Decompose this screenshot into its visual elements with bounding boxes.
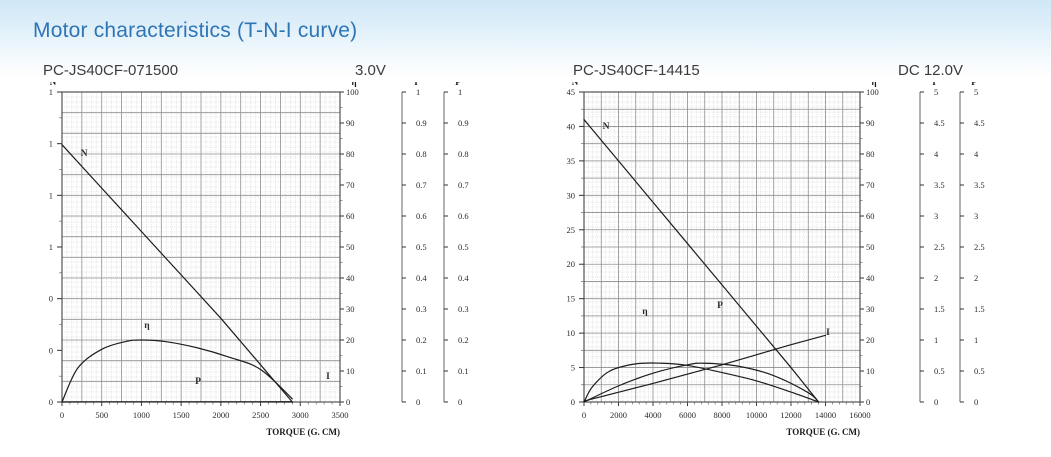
svg-text:0.5: 0.5 (458, 242, 469, 252)
chart-panel-left: PC-JS40CF-071500 3.0V 050010001500200025… (10, 54, 525, 456)
chart-svg-left: 0500100015002000250030003500TORQUE (G. C… (10, 82, 525, 457)
svg-text:50: 50 (346, 242, 355, 252)
svg-text:20: 20 (567, 259, 576, 269)
y-axis-eta: 0102030405060708090100 (860, 82, 879, 407)
svg-text:25: 25 (567, 225, 576, 235)
svg-text:3.5: 3.5 (974, 180, 985, 190)
svg-text:2500: 2500 (252, 410, 269, 420)
svg-text:0.8: 0.8 (458, 149, 469, 159)
chart-panel-right: PC-JS40CF-14415 DC 12.0V 020004000600080… (540, 54, 1045, 456)
svg-text:3500: 3500 (332, 410, 349, 420)
grid (584, 92, 860, 402)
svg-text:3: 3 (934, 211, 938, 221)
svg-text:10: 10 (866, 366, 875, 376)
svg-text:1: 1 (458, 87, 462, 97)
svg-text:0.4: 0.4 (416, 273, 427, 283)
svg-text:2.5: 2.5 (934, 242, 945, 252)
x-axis-label: TORQUE (G. CM) (786, 427, 860, 437)
svg-text:0: 0 (416, 397, 420, 407)
curve-eta (584, 363, 819, 402)
svg-text:0: 0 (934, 397, 938, 407)
svg-text:30: 30 (346, 304, 355, 314)
svg-text:1.5: 1.5 (974, 304, 985, 314)
svg-text:6000: 6000 (679, 410, 696, 420)
svg-text:0.9: 0.9 (458, 118, 469, 128)
svg-text:45: 45 (567, 87, 576, 97)
svg-text:0.7: 0.7 (458, 180, 469, 190)
svg-text:0: 0 (49, 397, 53, 407)
svg-text:0: 0 (571, 397, 575, 407)
svg-text:1: 1 (974, 335, 978, 345)
svg-text:0: 0 (49, 294, 53, 304)
svg-text:35: 35 (567, 156, 576, 166)
svg-text:2: 2 (934, 273, 938, 283)
y-axis-eta-title: η (351, 82, 356, 87)
svg-text:90: 90 (866, 118, 875, 128)
y-axis-i-title: I (932, 82, 936, 87)
svg-text:0.2: 0.2 (458, 335, 469, 345)
svg-text:15: 15 (567, 294, 576, 304)
svg-text:20: 20 (346, 335, 355, 345)
svg-text:10000: 10000 (746, 410, 767, 420)
y-axis-eta: 0102030405060708090100 (340, 82, 359, 407)
svg-text:2000: 2000 (610, 410, 627, 420)
y-axis-p: 00.511.522.533.544.55 (960, 87, 985, 407)
x-axis-label: TORQUE (G. CM) (266, 427, 340, 437)
x-axis: 0500100015002000250030003500 (60, 402, 349, 420)
svg-text:8000: 8000 (714, 410, 731, 420)
svg-text:40: 40 (346, 273, 355, 283)
svg-text:4.5: 4.5 (974, 118, 985, 128)
svg-text:1: 1 (49, 139, 53, 149)
svg-text:1.5: 1.5 (934, 304, 945, 314)
svg-text:1: 1 (49, 242, 53, 252)
y-axis-i: 00.10.20.30.40.50.60.70.80.91 (402, 87, 427, 407)
svg-text:0: 0 (582, 410, 586, 420)
svg-text:70: 70 (346, 180, 355, 190)
svg-text:0.4: 0.4 (458, 273, 469, 283)
svg-text:100: 100 (866, 87, 879, 97)
svg-text:50: 50 (866, 242, 875, 252)
curve-eta (62, 340, 292, 402)
svg-text:70: 70 (866, 180, 875, 190)
svg-text:80: 80 (346, 149, 355, 159)
svg-text:4000: 4000 (645, 410, 662, 420)
svg-text:1: 1 (416, 87, 420, 97)
svg-text:20: 20 (866, 335, 875, 345)
svg-text:0: 0 (49, 345, 53, 355)
svg-text:12000: 12000 (780, 410, 801, 420)
svg-text:500: 500 (95, 410, 108, 420)
svg-text:5: 5 (974, 87, 978, 97)
svg-text:60: 60 (866, 211, 875, 221)
svg-text:3: 3 (974, 211, 978, 221)
svg-text:0.6: 0.6 (416, 211, 427, 221)
svg-text:0.5: 0.5 (416, 242, 427, 252)
svg-text:0.3: 0.3 (416, 304, 427, 314)
svg-text:0: 0 (458, 397, 462, 407)
svg-text:4.5: 4.5 (934, 118, 945, 128)
svg-text:80: 80 (866, 149, 875, 159)
chart-svg-right: 0200040006000800010000120001400016000TOR… (540, 82, 1045, 457)
curve-label-eta: η (642, 307, 647, 317)
svg-text:40: 40 (567, 121, 576, 131)
svg-text:40: 40 (866, 273, 875, 283)
svg-text:5: 5 (934, 87, 938, 97)
svg-text:10: 10 (567, 328, 576, 338)
svg-text:0.2: 0.2 (416, 335, 427, 345)
x-axis: 0200040006000800010000120001400016000 (582, 402, 871, 420)
svg-text:0.7: 0.7 (416, 180, 427, 190)
svg-text:0: 0 (866, 397, 870, 407)
svg-text:10: 10 (346, 366, 355, 376)
svg-text:2000: 2000 (212, 410, 229, 420)
svg-text:16000: 16000 (849, 410, 870, 420)
svg-text:0.9: 0.9 (416, 118, 427, 128)
svg-text:0: 0 (974, 397, 978, 407)
y-axis-n: 0001111 (49, 82, 62, 407)
curve-label-P: P (717, 301, 723, 311)
y-axis-n-title: N (50, 82, 57, 87)
svg-text:14000: 14000 (815, 410, 836, 420)
svg-text:0: 0 (60, 410, 64, 420)
svg-text:5: 5 (571, 363, 575, 373)
model-name-right: PC-JS40CF-14415 (573, 62, 700, 79)
svg-text:90: 90 (346, 118, 355, 128)
curve-label-n: N (603, 122, 610, 132)
svg-text:3.5: 3.5 (934, 180, 945, 190)
svg-text:1: 1 (49, 190, 53, 200)
curve-p (584, 363, 819, 402)
y-axis-p-title: P (455, 82, 461, 87)
svg-text:0.1: 0.1 (416, 366, 427, 376)
y-axis-i: 00.511.522.533.544.55 (920, 87, 945, 407)
y-axis-n-title: N (572, 82, 579, 87)
page-title: Motor characteristics (T-N-I curve) (33, 19, 357, 43)
y-axis-n: 051015202530354045 (567, 82, 585, 407)
grid (62, 92, 340, 402)
svg-text:0: 0 (346, 397, 350, 407)
svg-text:0.3: 0.3 (458, 304, 469, 314)
curve-label-eta: η (144, 321, 149, 331)
svg-text:0.5: 0.5 (934, 366, 945, 376)
svg-text:100: 100 (346, 87, 359, 97)
svg-text:4: 4 (974, 149, 979, 159)
y-axis-eta-title: η (871, 82, 876, 87)
plot-left: 0500100015002000250030003500TORQUE (G. C… (10, 82, 525, 457)
plot-right: 0200040006000800010000120001400016000TOR… (540, 82, 1045, 457)
y-axis-i-title: I (414, 82, 418, 87)
voltage-label-left: 3.0V (355, 62, 386, 79)
svg-text:2.5: 2.5 (974, 242, 985, 252)
svg-text:0.1: 0.1 (458, 366, 469, 376)
curve-label-P: P (195, 377, 201, 387)
svg-text:30: 30 (567, 190, 576, 200)
svg-text:30: 30 (866, 304, 875, 314)
svg-text:0.5: 0.5 (974, 366, 985, 376)
svg-text:1500: 1500 (173, 410, 190, 420)
svg-text:2: 2 (974, 273, 978, 283)
svg-text:4: 4 (934, 149, 939, 159)
curve-label-n: N (81, 149, 88, 159)
svg-text:0.8: 0.8 (416, 149, 427, 159)
svg-text:3000: 3000 (292, 410, 309, 420)
curve-label-I: I (826, 328, 830, 338)
svg-text:1: 1 (49, 87, 53, 97)
svg-text:0.6: 0.6 (458, 211, 469, 221)
y-axis-p-title: P (971, 82, 977, 87)
svg-text:60: 60 (346, 211, 355, 221)
svg-text:1: 1 (934, 335, 938, 345)
voltage-label-right: DC 12.0V (898, 62, 963, 79)
model-name-left: PC-JS40CF-071500 (43, 62, 178, 79)
svg-text:1000: 1000 (133, 410, 150, 420)
curve-label-I: I (326, 372, 330, 382)
y-axis-p: 00.10.20.30.40.50.60.70.80.91 (444, 87, 469, 407)
